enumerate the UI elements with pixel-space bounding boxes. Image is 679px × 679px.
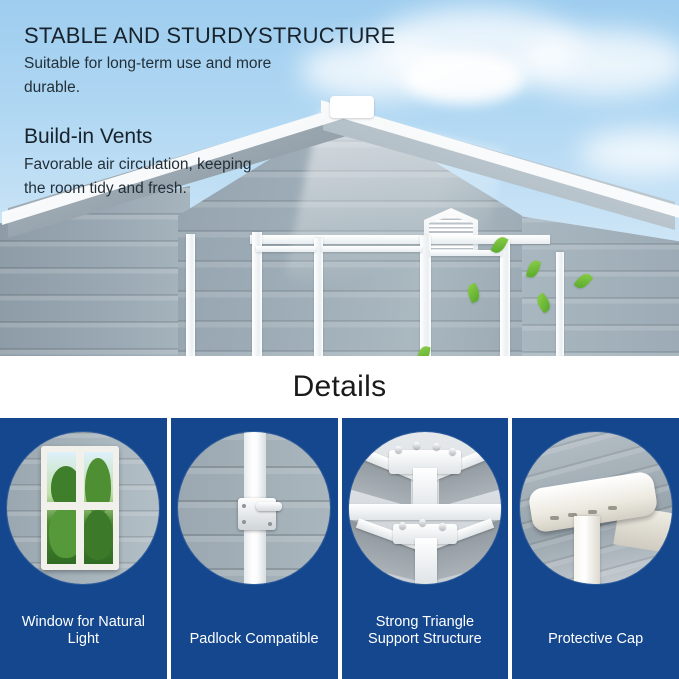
shed-window-photo [7,432,159,584]
details-panels: Window for Natural Light Padlock Compati… [0,418,679,679]
detail-label-padlock: Padlock Compatible [171,631,338,649]
hero-copy: STABLE AND STURDYSTRUCTURE Suitable for … [24,22,424,199]
detail-panel-window[interactable]: Window for Natural Light [0,418,167,679]
protective-cap-photo [520,432,672,584]
horizontal-purlin [349,504,501,520]
bolt-icon [395,446,402,453]
shed-post [556,252,564,356]
feature-text-stable-line1: Suitable for long-term use and more [24,53,424,74]
feature-heading-vents: Build-in Vents [24,124,424,150]
feature-text-vents-line2: the room tidy and fresh. [24,178,424,199]
bolt-icon [419,519,426,526]
feature-text-vents-line1: Favorable air circulation, keeping [24,154,424,175]
detail-label-truss: Strong Triangle Support Structure [342,614,509,649]
vent-hole-icon [608,506,617,510]
detail-panel-padlock[interactable]: Padlock Compatible [171,418,338,679]
shed-post [500,240,510,356]
king-post-lower [415,538,437,584]
shed-post [186,234,195,356]
detail-panel-cap[interactable]: Protective Cap [512,418,679,679]
shed-door-header [322,246,422,252]
vent-hole-icon [550,516,559,520]
feature-heading-stable: STABLE AND STURDYSTRUCTURE [24,22,424,50]
detail-label-truss-line1: Strong Triangle [348,614,503,632]
screw-icon [268,522,272,526]
vent-hole-icon [588,510,597,514]
detail-label-window-line1: Window for Natural [6,614,161,632]
bolt-icon [399,522,406,529]
bolt-icon [439,523,446,530]
hero-section: STABLE AND STURDYSTRUCTURE Suitable for … [0,0,679,356]
detail-label-cap: Protective Cap [512,631,679,649]
product-feature-image: STABLE AND STURDYSTRUCTURE Suitable for … [0,0,679,679]
bolt-icon [433,443,440,450]
detail-panel-truss[interactable]: Strong Triangle Support Structure [342,418,509,679]
detail-label-cap-line1: Protective Cap [518,631,673,649]
hero-copy-block-vents: Build-in Vents Favorable air circulation… [24,124,424,199]
screw-icon [242,504,246,508]
door-latch-photo [178,432,330,584]
screw-icon [242,520,246,524]
detail-label-window: Window for Natural Light [0,614,167,649]
detail-label-padlock-line1: Padlock Compatible [177,631,332,649]
door-handle-icon [256,502,282,511]
window-mullion-horizontal [47,502,113,510]
details-band: Details [0,356,679,418]
details-title: Details [293,370,387,404]
bolt-icon [449,448,456,455]
detail-label-truss-line2: Support Structure [348,631,503,649]
detail-label-window-line2: Light [6,631,161,649]
shed-door-header [256,246,316,252]
feature-text-stable-line2: durable. [24,77,424,98]
shed-door-post [314,238,323,356]
support-post [574,516,600,584]
bolt-icon [413,442,420,449]
cloud-icon [520,30,679,96]
roof-truss-photo [349,432,501,584]
